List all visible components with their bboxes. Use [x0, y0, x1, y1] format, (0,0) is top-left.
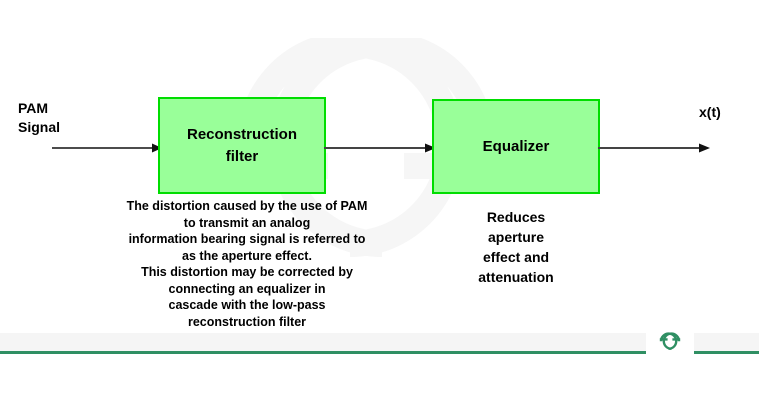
diagram-canvas: PAM Signal Reconstruction filter Equaliz… [0, 0, 759, 412]
block-reconstruction-filter[interactable]: Reconstruction filter [158, 97, 326, 194]
output-signal-label: x(t) [699, 104, 721, 120]
caption-reconstruction-filter: The distortion caused by the use of PAM … [92, 198, 402, 330]
caption-equalizer: Reduces aperture effect and attenuation [452, 207, 580, 287]
arrow-input-to-filter [52, 142, 162, 154]
footer-rule-left [0, 351, 648, 354]
input-signal-label: PAM Signal [18, 99, 60, 137]
block-equalizer[interactable]: Equalizer [432, 99, 600, 194]
arrow-filter-to-equalizer [324, 142, 436, 154]
geeksforgeeks-logo [646, 326, 694, 358]
arrow-equalizer-to-output [598, 142, 710, 154]
footer-rule-right [692, 351, 759, 354]
